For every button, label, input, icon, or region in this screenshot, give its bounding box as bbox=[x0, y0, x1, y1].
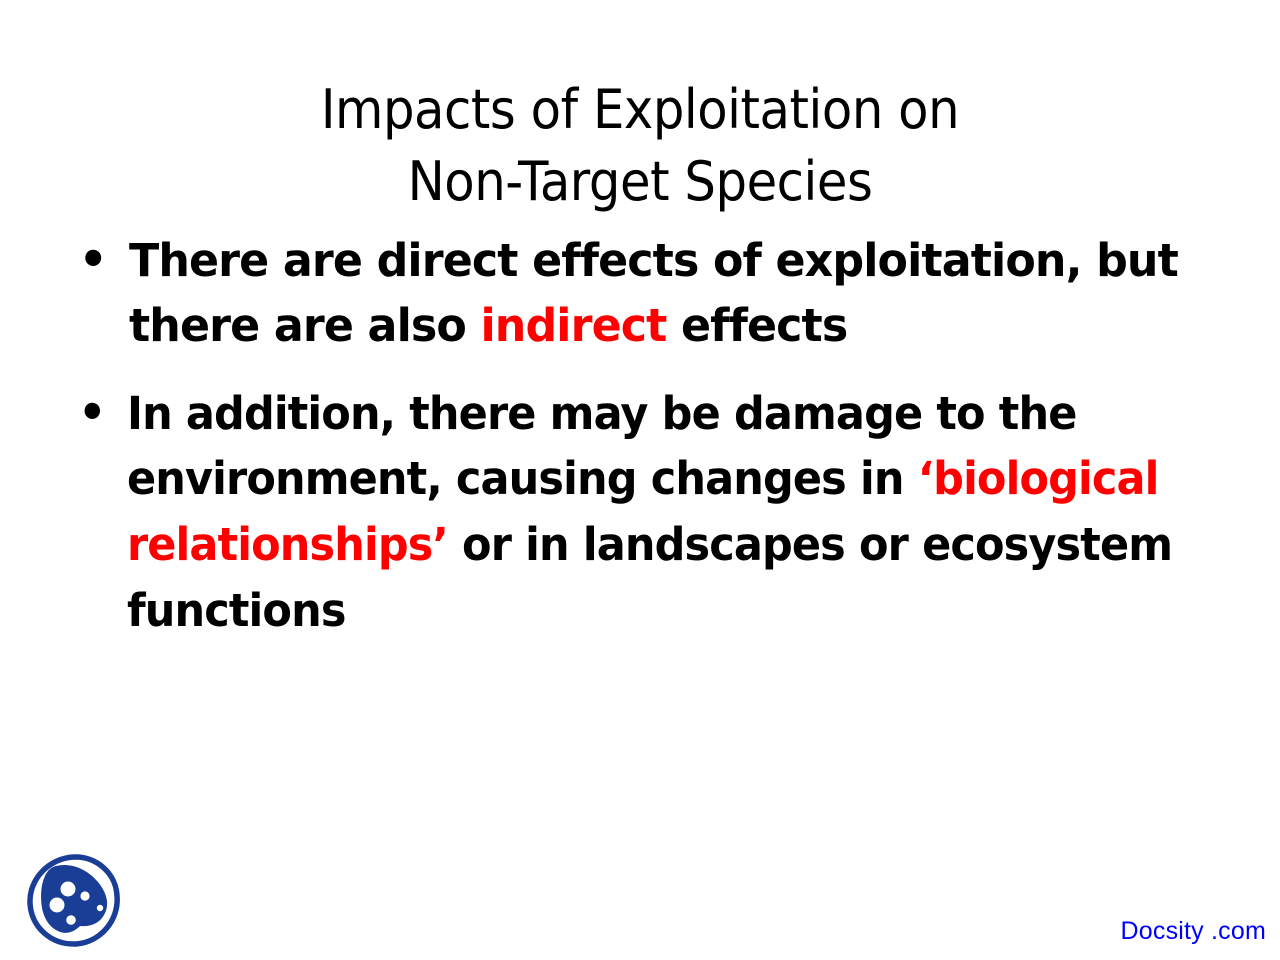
bullet-1-highlight-indirect: indirect bbox=[480, 299, 666, 352]
title-line-1: Impacts of Exploitation on bbox=[51, 74, 1229, 146]
docsity-logo-icon bbox=[22, 848, 126, 952]
docsity-watermark: Docsity .com bbox=[1121, 917, 1266, 946]
title-line-2: Non-Target Species bbox=[51, 146, 1229, 218]
bullet-item-2: •In addition, there may be damage to the… bbox=[62, 381, 1194, 644]
bullet-marker-icon: • bbox=[79, 226, 107, 293]
slide-title: Impacts of Exploitation on Non-Target Sp… bbox=[51, 74, 1229, 218]
bullet-marker-icon: • bbox=[78, 379, 105, 446]
bullet-list: •There are direct effects of exploitatio… bbox=[62, 228, 1247, 643]
bullet-item-1: •There are direct effects of exploitatio… bbox=[62, 228, 1229, 359]
bullet-1-segment-3: effects bbox=[666, 299, 847, 352]
slide-canvas: Impacts of Exploitation on Non-Target Sp… bbox=[0, 0, 1280, 960]
